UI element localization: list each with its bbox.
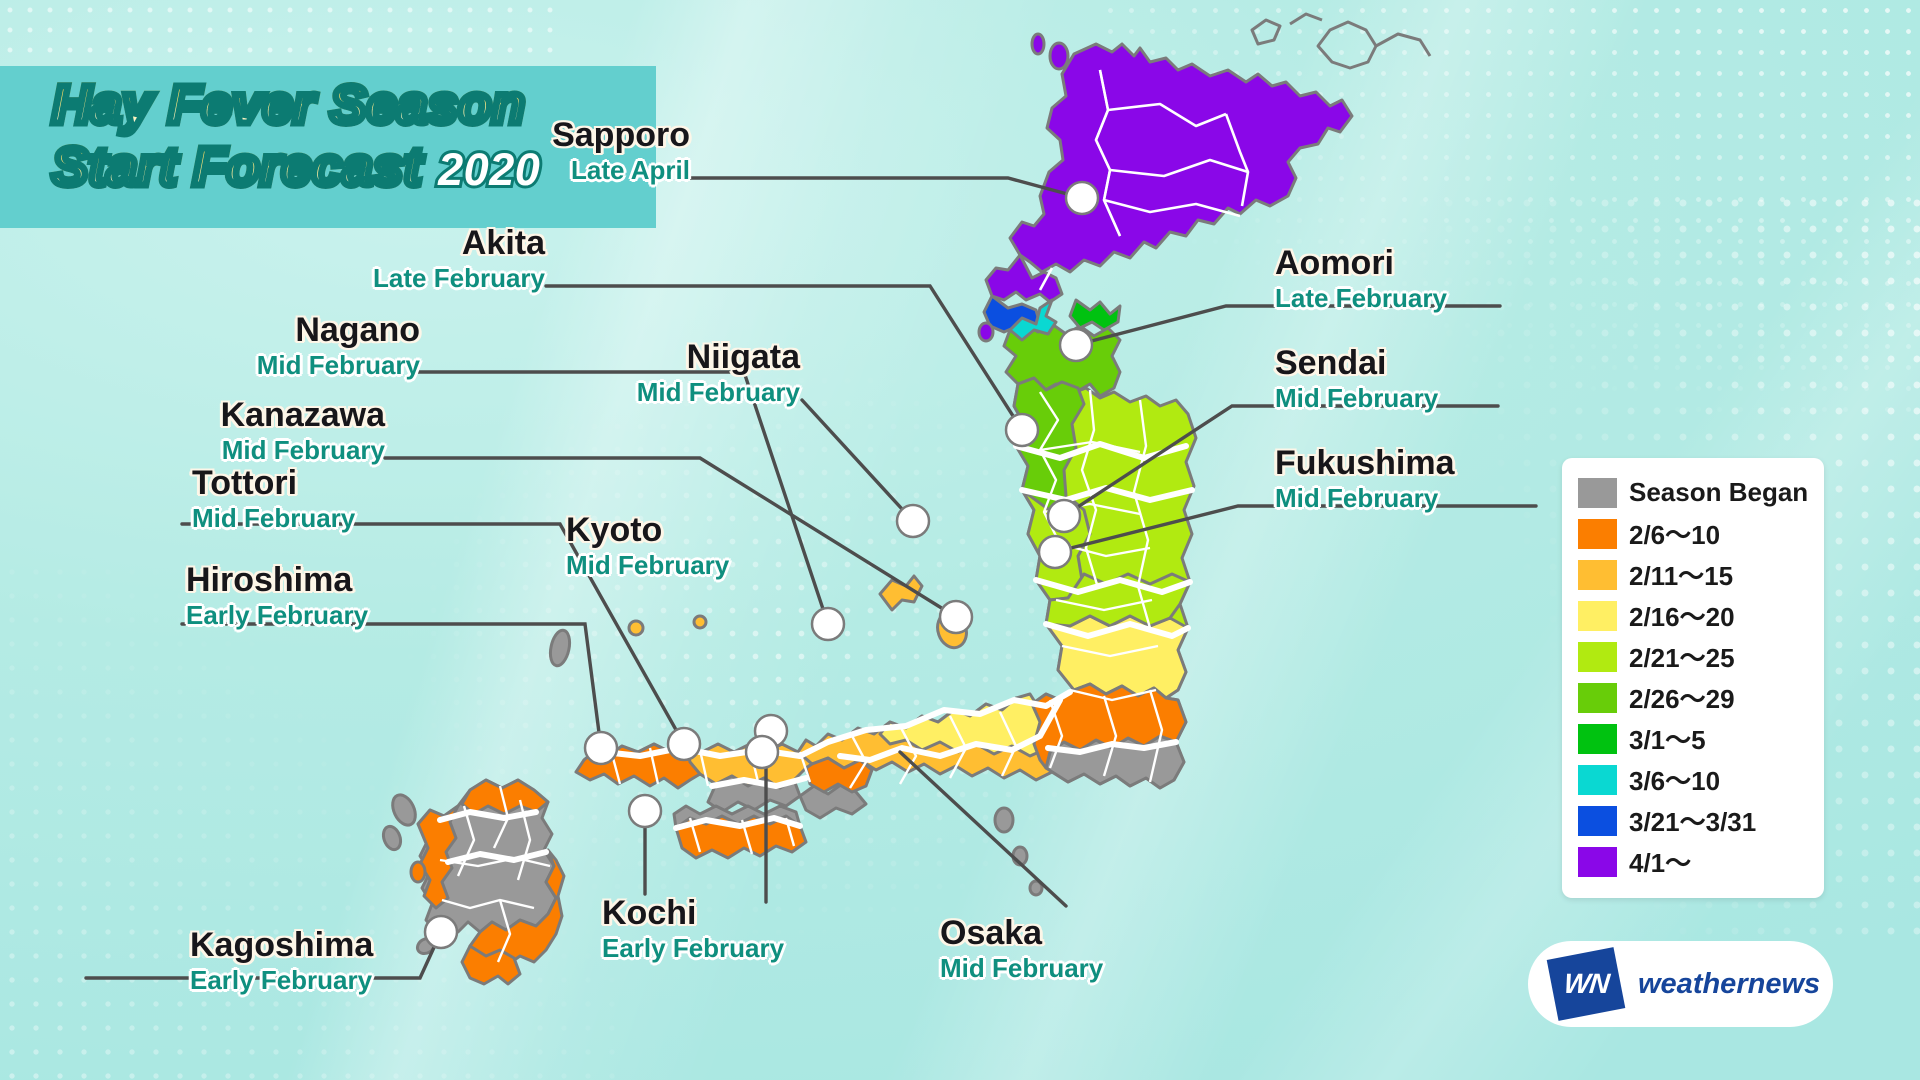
city-forecast: Early February [602, 934, 784, 963]
city-name: Nagano [120, 313, 420, 348]
city-label-kanazawa: Kanazawa Mid February [85, 398, 385, 465]
city-label-aomori: Aomori Late February [1275, 246, 1447, 313]
legend-swatch [1578, 765, 1617, 795]
city-label-niigata: Niigata Mid February [500, 340, 800, 407]
city-forecast: Early February [190, 966, 373, 995]
infographic-canvas: Hay Fever Season Start Forecast2020 Sapp… [0, 0, 1920, 1080]
legend-row: 2/21〜25 [1562, 636, 1824, 677]
map-region-hokkaido [1010, 44, 1352, 272]
map-islet-small-2 [694, 616, 706, 628]
city-dot-nagano[interactable] [812, 608, 844, 640]
city-label-akita: Akita Late February [245, 226, 545, 293]
city-forecast: Late April [390, 156, 690, 185]
city-label-sendai: Sendai Mid February [1275, 346, 1438, 413]
legend-swatch [1578, 601, 1617, 631]
legend-swatch [1578, 847, 1617, 877]
city-name: Niigata [500, 340, 800, 375]
city-dot-kagoshima[interactable] [425, 916, 457, 948]
legend-label: 2/16〜20 [1629, 597, 1735, 634]
weathernews-logo: WN weathernews [1528, 941, 1833, 1027]
map-islet-amakusa [411, 862, 425, 882]
legend-swatch [1578, 519, 1617, 549]
city-name: Fukushima [1275, 446, 1454, 481]
city-forecast: Mid February [940, 954, 1103, 983]
city-name: Sendai [1275, 346, 1438, 381]
city-forecast: Mid February [500, 378, 800, 407]
city-label-osaka: Osaka Mid February [940, 916, 1103, 983]
city-dot-tottori[interactable] [668, 728, 700, 760]
legend-label: 2/21〜25 [1629, 638, 1735, 675]
city-name: Hiroshima [186, 563, 368, 598]
city-name: Sapporo [390, 118, 690, 153]
city-name: Aomori [1275, 246, 1447, 281]
title-line-2: Start Forecast [52, 137, 422, 197]
city-name: Kanazawa [85, 398, 385, 433]
map-islet-goto-north [388, 791, 420, 828]
legend-label: 2/6〜10 [1629, 515, 1720, 552]
city-name: Akita [245, 226, 545, 261]
legend-label: 2/11〜15 [1629, 556, 1733, 593]
legend-row: Season Began [1562, 472, 1824, 513]
city-forecast: Mid February [566, 551, 729, 580]
legend-swatch [1578, 642, 1617, 672]
legend-row: 2/11〜15 [1562, 554, 1824, 595]
city-label-kagoshima: Kagoshima Early February [190, 928, 373, 995]
legend-row: 2/16〜20 [1562, 595, 1824, 636]
map-islet-izu-1 [995, 808, 1013, 832]
city-name: Kagoshima [190, 928, 373, 963]
city-dot-kochi[interactable] [629, 795, 661, 827]
city-name: Osaka [940, 916, 1103, 951]
legend-label: 2/26〜29 [1629, 679, 1735, 716]
wn-mark-icon: WN [1547, 947, 1626, 1021]
city-forecast: Mid February [192, 504, 355, 533]
legend-row: 2/6〜10 [1562, 513, 1824, 554]
city-name: Kochi [602, 896, 784, 931]
city-dot-fukushima[interactable] [1039, 536, 1071, 568]
legend-label: 3/1〜5 [1629, 720, 1706, 757]
city-forecast: Late February [245, 264, 545, 293]
city-forecast: Mid February [1275, 384, 1438, 413]
wn-mark-text: WN [1562, 968, 1610, 1000]
city-dot-niigata[interactable] [897, 505, 929, 537]
city-label-sapporo: Sapporo Late April [390, 118, 690, 185]
legend-row: 3/1〜5 [1562, 718, 1824, 759]
city-forecast: Late February [1275, 284, 1447, 313]
legend-row: 3/6〜10 [1562, 759, 1824, 800]
map-islet-small-1 [629, 621, 643, 635]
legend-swatch [1578, 683, 1617, 713]
legend-row: 3/21〜3/31 [1562, 800, 1824, 841]
city-forecast: Mid February [120, 351, 420, 380]
city-forecast: Early February [186, 601, 368, 630]
city-dot-aomori[interactable] [1060, 329, 1092, 361]
map-islet-rebun [1032, 34, 1044, 54]
city-label-nagano: Nagano Mid February [120, 313, 420, 380]
map-islet-oki [547, 629, 572, 668]
logo-wordmark: weathernews [1638, 968, 1820, 1001]
legend-swatch [1578, 560, 1617, 590]
legend-swatch [1578, 806, 1617, 836]
legend-label: 3/21〜3/31 [1629, 802, 1756, 839]
legend: Season Began 2/6〜10 2/11〜15 2/16〜20 2/21… [1562, 458, 1824, 898]
city-dot-sendai[interactable] [1048, 500, 1080, 532]
city-label-hiroshima: Hiroshima Early February [186, 563, 368, 630]
city-dot-sapporo[interactable] [1066, 182, 1098, 214]
legend-label: Season Began [1629, 477, 1808, 508]
city-dot-akita[interactable] [1006, 414, 1038, 446]
city-dot-hiroshima[interactable] [585, 732, 617, 764]
city-dot-osaka[interactable] [746, 736, 778, 768]
city-forecast: Mid February [1275, 484, 1454, 513]
city-forecast: Mid February [85, 436, 385, 465]
city-name: Kyoto [566, 513, 729, 548]
legend-label: 4/1〜 [1629, 843, 1691, 880]
city-label-kochi: Kochi Early February [602, 896, 784, 963]
city-label-fukushima: Fukushima Mid February [1275, 446, 1454, 513]
city-label-kyoto: Kyoto Mid February [566, 513, 729, 580]
legend-row: 2/26〜29 [1562, 677, 1824, 718]
map-islet-okushiri [979, 323, 993, 341]
city-dot-kanazawa[interactable] [940, 601, 972, 633]
legend-swatch [1578, 724, 1617, 754]
map-islet-rishiri [1050, 43, 1068, 69]
legend-swatch [1578, 478, 1617, 508]
city-label-tottori: Tottori Mid February [192, 466, 355, 533]
map-islet-goto-south [380, 824, 403, 852]
legend-row: 4/1〜 [1562, 841, 1824, 882]
legend-label: 3/6〜10 [1629, 761, 1720, 798]
city-name: Tottori [192, 466, 355, 501]
map-region-shimokita [1070, 300, 1120, 330]
